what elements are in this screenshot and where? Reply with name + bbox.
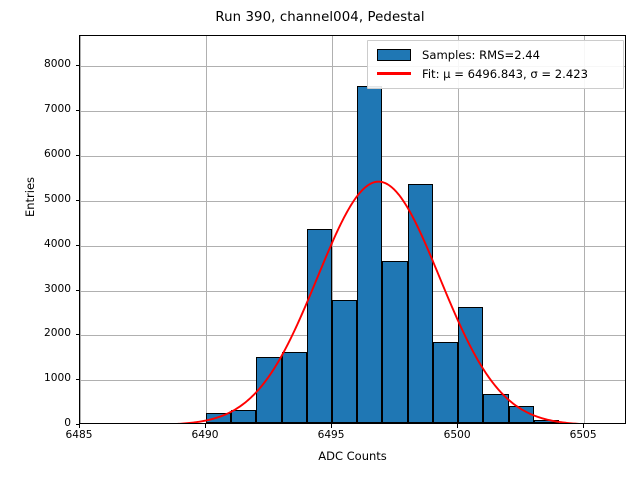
y-tick-mark — [76, 245, 80, 246]
y-tick-label: 8000 — [11, 58, 71, 70]
x-tick-label: 6495 — [296, 429, 366, 441]
legend-entry-samples: Samples: RMS=2.44 — [374, 45, 617, 64]
x-tick-label: 6500 — [422, 429, 492, 441]
y-tick-mark — [76, 155, 80, 156]
y-tick-mark — [76, 290, 80, 291]
legend-label-samples: Samples: RMS=2.44 — [414, 48, 540, 62]
x-tick-mark — [79, 424, 80, 428]
x-tick-mark — [583, 424, 584, 428]
y-tick-mark — [76, 424, 80, 425]
x-tick-mark — [457, 424, 458, 428]
y-tick-label: 4000 — [11, 238, 71, 250]
y-tick-label: 1000 — [11, 372, 71, 384]
y-tick-mark — [76, 200, 80, 201]
x-tick-label: 6485 — [44, 429, 114, 441]
legend-label-fit: Fit: μ = 6496.843, σ = 2.423 — [414, 67, 588, 81]
legend-entry-fit: Fit: μ = 6496.843, σ = 2.423 — [374, 64, 617, 83]
y-tick-label: 7000 — [11, 103, 71, 115]
y-tick-label: 6000 — [11, 148, 71, 160]
x-tick-label: 6490 — [170, 429, 240, 441]
y-tick-mark — [76, 110, 80, 111]
legend: Samples: RMS=2.44 Fit: μ = 6496.843, σ =… — [367, 40, 624, 89]
y-tick-label: 3000 — [11, 283, 71, 295]
matplotlib-figure: Run 390, channel004, Pedestal 6485649064… — [0, 0, 640, 480]
y-axis-label: Entries — [23, 127, 37, 267]
fit-curve — [80, 36, 626, 424]
y-tick-label: 2000 — [11, 327, 71, 339]
y-tick-mark — [76, 379, 80, 380]
legend-patch-icon — [374, 49, 414, 61]
x-axis-label: ADC Counts — [79, 449, 626, 463]
plot-area — [79, 35, 626, 424]
y-tick-label: 5000 — [11, 193, 71, 205]
chart-title: Run 390, channel004, Pedestal — [0, 10, 640, 25]
y-tick-mark — [76, 334, 80, 335]
legend-line-icon — [374, 72, 414, 74]
x-tick-mark — [205, 424, 206, 428]
x-tick-mark — [331, 424, 332, 428]
x-tick-label: 6505 — [548, 429, 618, 441]
y-tick-label: 0 — [11, 417, 71, 429]
y-tick-mark — [76, 65, 80, 66]
